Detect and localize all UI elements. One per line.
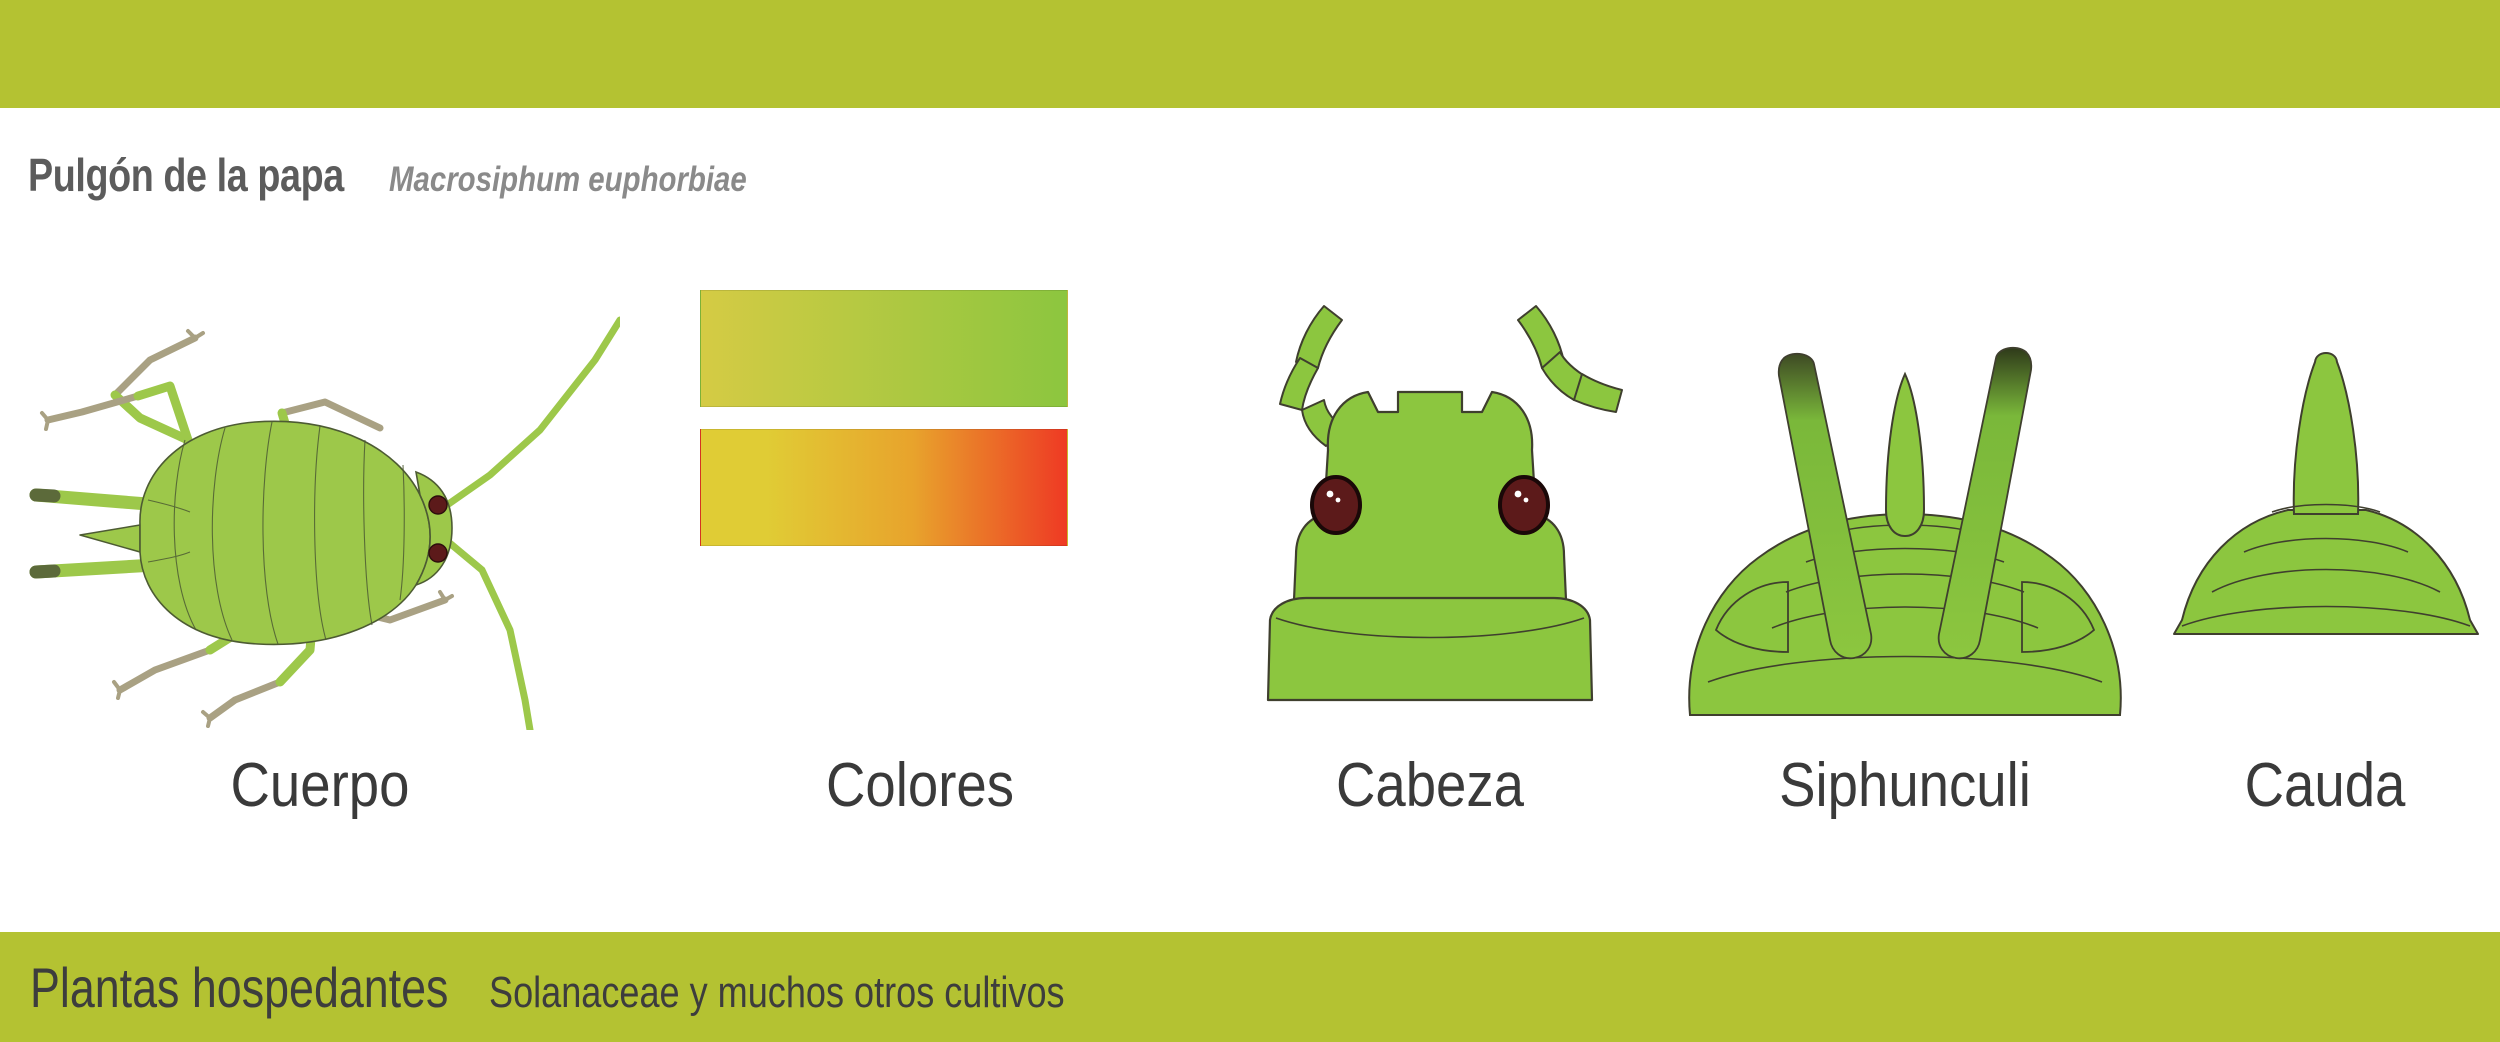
panel-cauda: Cauda <box>2160 300 2490 820</box>
panel-cabeza: Cabeza <box>1230 300 1630 820</box>
aphid-head-illustration <box>1230 300 1630 730</box>
swatch-yellow-to-green <box>700 290 1068 407</box>
page-title: Pulgón de la papa <box>28 148 344 202</box>
swatch-yellow-to-red <box>700 429 1068 546</box>
host-plants-label: Plantas hospedantes <box>30 955 448 1020</box>
panel-label-cabeza: Cabeza <box>1254 750 1606 821</box>
aphid-body-illustration <box>20 300 620 730</box>
aphid-siphunculi-illustration <box>1680 300 2130 730</box>
panel-siphunculi: Siphunculi <box>1680 300 2130 820</box>
top-green-band <box>0 0 2500 108</box>
panel-label-cauda: Cauda <box>2180 750 2470 821</box>
panel-cuerpo: Cuerpo <box>20 300 620 820</box>
panel-label-siphunculi: Siphunculi <box>1707 750 2103 821</box>
eye-icon <box>1312 477 1360 533</box>
aphid-cauda-illustration <box>2160 300 2490 730</box>
panel-colores: Colores <box>700 300 1140 820</box>
eye-icon <box>1500 477 1548 533</box>
eye-icon <box>429 544 447 562</box>
scientific-name: Macrosiphum euphorbiae <box>389 160 747 200</box>
header: Pulgón de la papa Macrosiphum euphorbiae <box>28 148 815 202</box>
color-gradient-swatches <box>700 290 1068 546</box>
footer: Plantas hospedantes Solanaceae y muchos … <box>30 955 1191 1020</box>
host-plants-value: Solanaceae y muchos otros cultivos <box>489 968 1065 1018</box>
eye-icon <box>429 496 447 514</box>
infographic-page: Pulgón de la papa Macrosiphum euphorbiae <box>0 0 2500 1042</box>
panel-label-colores: Colores <box>726 750 1113 821</box>
panel-label-cuerpo: Cuerpo <box>56 750 584 821</box>
